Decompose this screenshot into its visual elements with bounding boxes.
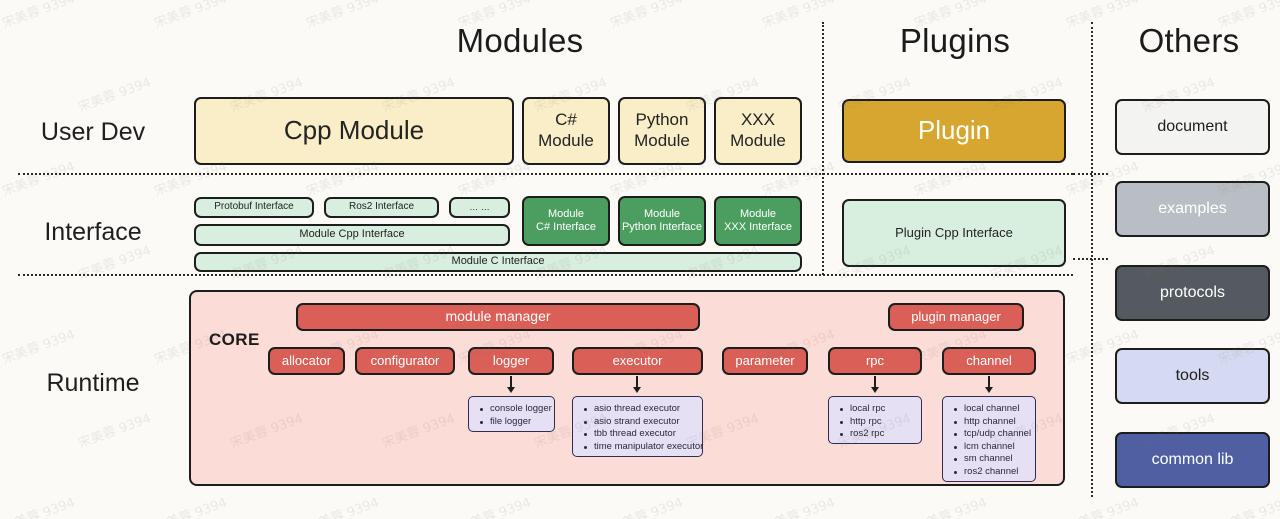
watermark-text: 宋美蓉 9394 [0,240,1,284]
list-item: lcm channel [952,441,1027,454]
divider-interface-runtime [18,274,1073,276]
column-header-modules: Modules [350,22,690,60]
watermark-text: 宋美蓉 9394 [0,0,77,31]
watermark-text: 宋美蓉 9394 [0,408,1,452]
component-rpc[interactable]: rpc [828,347,922,375]
arrow-down-logger-icon [504,376,518,394]
module-cpp[interactable]: Cpp Module [194,97,514,165]
divider-plugins-others [1091,22,1093,497]
component-configurator[interactable]: configurator [355,347,455,375]
list-item: http channel [952,416,1027,429]
others-document[interactable]: document [1115,99,1270,155]
component-executor[interactable]: executor [572,347,703,375]
interface-module-cpp[interactable]: Module Cpp Interface [194,224,510,246]
arrow-down-channel-icon [982,376,996,394]
others-tools[interactable]: tools [1115,348,1270,404]
list-item: tcp/udp channel [952,428,1027,441]
list-item: tbb thread executor [582,428,694,441]
watermark-text: 宋美蓉 9394 [303,492,381,519]
column-header-plugins: Plugins [830,22,1080,60]
watermark-text: 宋美蓉 9394 [759,0,837,31]
watermark-text: 宋美蓉 9394 [75,72,153,116]
list-item: local channel [952,403,1027,416]
interface-module-csharp[interactable]: Module C# Interface [522,196,610,246]
interface-module-python[interactable]: Module Python Interface [618,196,706,246]
watermark-text: 宋美蓉 9394 [151,0,229,31]
divider-userdev-interface [18,173,1073,175]
row-label-interface: Interface [8,218,178,247]
others-examples[interactable]: examples [1115,181,1270,237]
watermark-text: 宋美蓉 9394 [0,72,1,116]
watermark-text: 宋美蓉 9394 [0,156,77,200]
module-xxx[interactable]: XXX Module [714,97,802,165]
interface-plugin-cpp[interactable]: Plugin Cpp Interface [842,199,1066,267]
module-manager[interactable]: module manager [296,303,700,331]
watermark-text: 宋美蓉 9394 [455,492,533,519]
interface-module-xxx[interactable]: Module XXX Interface [714,196,802,246]
list-item: time manipulator executor [582,441,694,454]
module-csharp[interactable]: C# Module [522,97,610,165]
list-item: local rpc [838,403,913,416]
arrow-down-executor-icon [630,376,644,394]
plugin-manager[interactable]: plugin manager [888,303,1024,331]
component-parameter[interactable]: parameter [722,347,808,375]
list-item: console logger [478,403,546,416]
core-label: CORE [209,330,260,350]
rpc-details: local rpchttp rpcros2 rpc [828,396,922,444]
interface-protobuf[interactable]: Protobuf Interface [194,197,314,218]
others-common-lib[interactable]: common lib [1115,432,1270,488]
module-python[interactable]: Python Module [618,97,706,165]
others-protocols[interactable]: protocols [1115,265,1270,321]
watermark-text: 宋美蓉 9394 [75,408,153,452]
component-channel[interactable]: channel [942,347,1036,375]
list-item: asio strand executor [582,416,694,429]
watermark-text: 宋美蓉 9394 [1215,492,1280,519]
channel-list: local channelhttp channeltcp/udp channel… [943,397,1035,485]
plugin-block[interactable]: Plugin [842,99,1066,163]
row-label-runtime: Runtime [8,369,178,398]
arrow-down-rpc-icon [868,376,882,394]
interface-ros2[interactable]: Ros2 Interface [324,197,439,218]
channel-details: local channelhttp channeltcp/udp channel… [942,396,1036,482]
watermark-text: 宋美蓉 9394 [0,324,77,368]
list-item: ros2 channel [952,466,1027,479]
list-item: file logger [478,416,546,429]
rpc-list: local rpchttp rpcros2 rpc [829,397,921,447]
logger-list: console loggerfile logger [469,397,554,434]
executor-details: asio thread executorasio strand executor… [572,396,703,457]
watermark-text: 宋美蓉 9394 [1063,492,1141,519]
interface-module-c[interactable]: Module C Interface [194,252,802,272]
watermark-text: 宋美蓉 9394 [911,492,989,519]
logger-details: console loggerfile logger [468,396,555,432]
executor-list: asio thread executorasio strand executor… [573,397,702,459]
watermark-text: 宋美蓉 9394 [151,492,229,519]
row-label-user-dev: User Dev [8,118,178,147]
component-allocator[interactable]: allocator [268,347,345,375]
watermark-text: 宋美蓉 9394 [759,492,837,519]
column-header-others: Others [1098,22,1280,60]
divider-modules-plugins [822,22,824,275]
list-item: sm channel [952,453,1027,466]
interface-ellipsis[interactable]: … … [449,197,510,218]
list-item: asio thread executor [582,403,694,416]
watermark-text: 宋美蓉 9394 [607,492,685,519]
list-item: ros2 rpc [838,428,913,441]
watermark-text: 宋美蓉 9394 [0,492,77,519]
component-logger[interactable]: logger [468,347,554,375]
architecture-diagram: 宋美蓉 9394宋美蓉 9394宋美蓉 9394宋美蓉 9394宋美蓉 9394… [0,0,1280,519]
list-item: http rpc [838,416,913,429]
